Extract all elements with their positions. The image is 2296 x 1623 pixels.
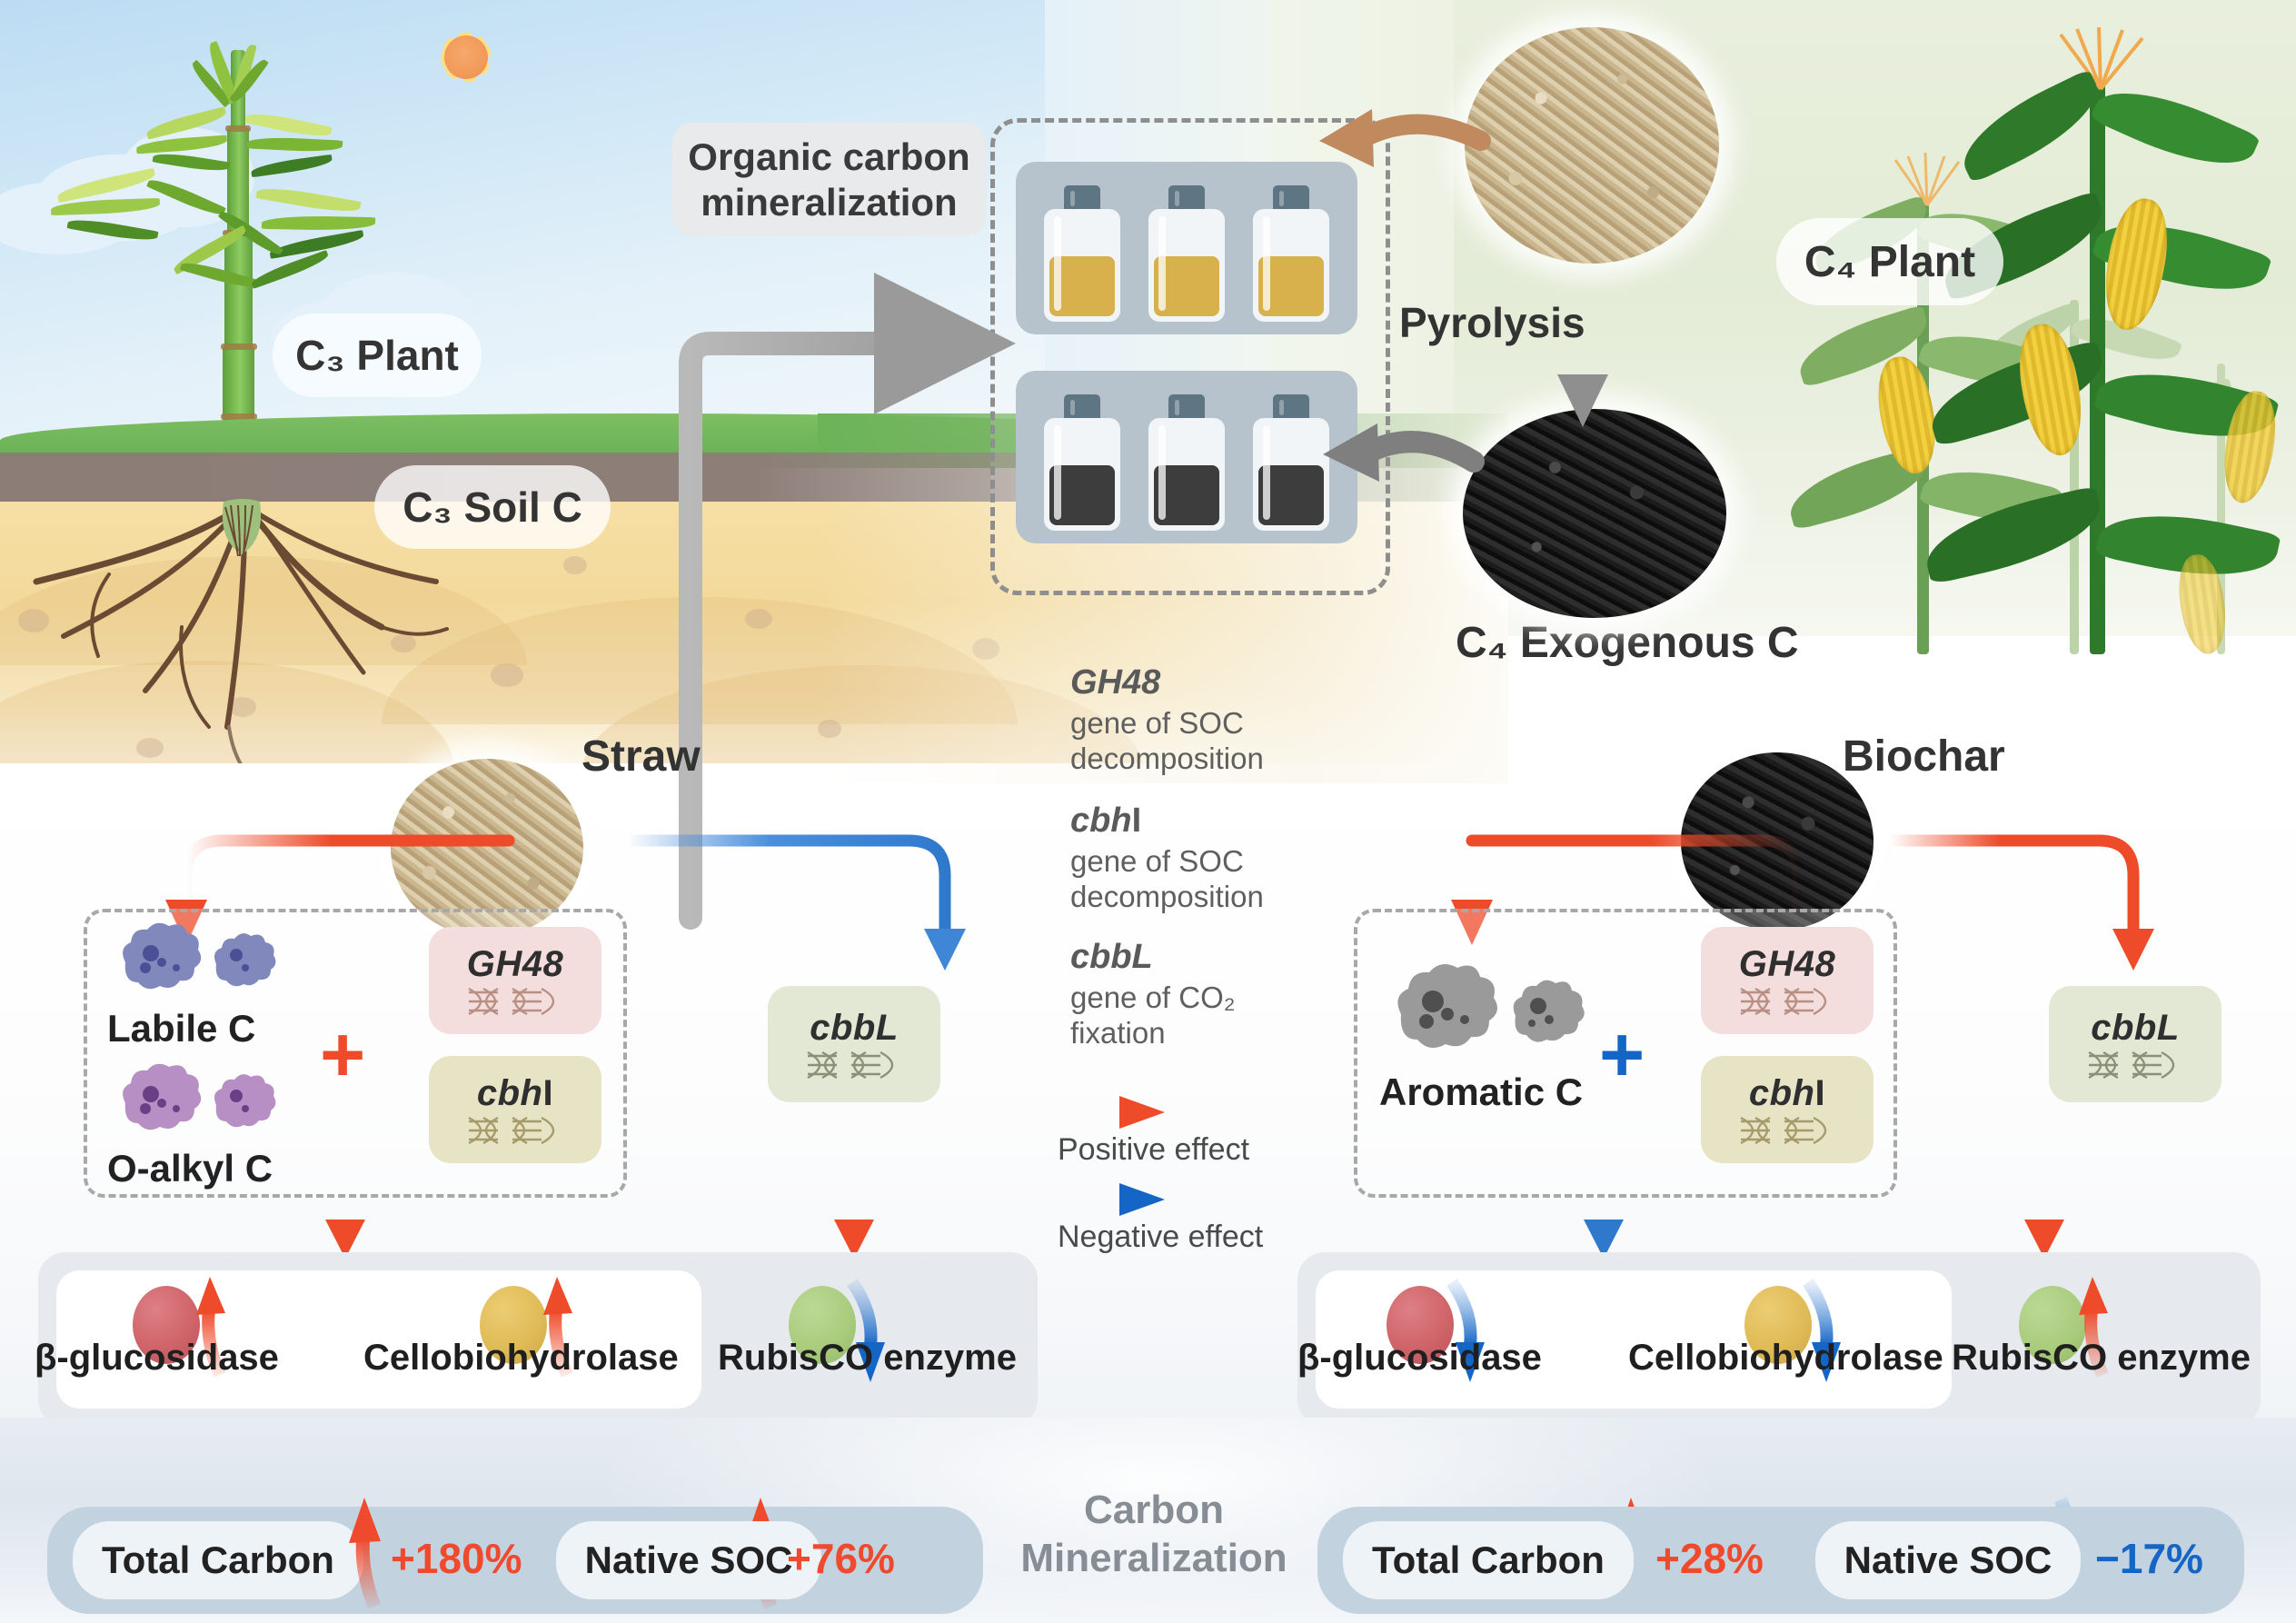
c3-plant-text: C₃ Plant [295, 331, 459, 380]
right-plus-icon: + [1599, 1016, 1645, 1094]
legend-cbbl-desc: gene of CO₂ fixation [1070, 981, 1279, 1051]
right-gene-cbhi: cbhI [1701, 1056, 1874, 1163]
left-gene-cbhi: cbhI [429, 1056, 601, 1163]
gene-legend-gh48: GH48 gene of SOC decomposition [1070, 663, 1279, 777]
right-cbbl-name: cbbL [2091, 1008, 2180, 1049]
left-plus-icon: + [320, 1016, 365, 1094]
c3-soil-label: C₃ Soil C [374, 465, 611, 549]
straw-label: Straw [581, 732, 701, 782]
incubation-tray-dark [1016, 371, 1357, 543]
ocm-text: Organic carbon mineralization [672, 134, 986, 224]
incubation-bottle [1253, 185, 1329, 322]
right-gene-cbbl: cbbL [2049, 986, 2221, 1102]
left-gene-cbbl: cbbL [768, 986, 940, 1102]
left-cbbl-name: cbbL [810, 1008, 899, 1049]
right-cbhi-name: cbhI [1749, 1073, 1825, 1114]
gene-legend-cbbl: cbbL gene of CO₂ fixation [1070, 938, 1279, 1051]
corn-field [1708, 0, 2296, 654]
left-total-carbon-chip: Total Carbon [73, 1521, 363, 1599]
right-native-soc-value: −17% [2095, 1534, 2203, 1583]
pyrolysis-label: Pyrolysis [1399, 298, 1585, 347]
dna-icon [2085, 1049, 2185, 1081]
dna-icon [465, 985, 565, 1018]
straw-photo-top [1465, 27, 1719, 264]
right-native-soc-chip: Native SOC [1815, 1521, 2081, 1599]
right-gene-gh48: GH48 [1701, 927, 1874, 1034]
right-native-soc-label: Native SOC [1844, 1538, 2052, 1582]
left-native-soc-value: +76% [787, 1534, 895, 1583]
right-enzyme-label-1: Cellobiohydrolase [1628, 1338, 1943, 1379]
gene-legend-cbhi: cbhI gene of SOC decomposition [1070, 802, 1279, 915]
legend-negative-effect: Negative effect [1058, 1220, 1263, 1255]
left-native-soc-label: Native SOC [585, 1538, 793, 1582]
left-enzyme-label-1: Cellobiohydrolase [363, 1338, 679, 1379]
dna-icon [1737, 985, 1837, 1018]
left-native-soc-chip: Native SOC [556, 1521, 821, 1599]
left-total-carbon-value: +180% [391, 1534, 522, 1583]
legend-positive-effect: Positive effect [1058, 1132, 1249, 1168]
figure-canvas: C₃ Plant C₃ Soil C C₄ Plant C₄ Exogenous… [0, 0, 2296, 1623]
legend-cbhi-desc: gene of SOC decomposition [1070, 844, 1279, 915]
incubation-bottle [1253, 394, 1329, 531]
right-total-carbon-value: +28% [1655, 1534, 1764, 1583]
left-gh48-name: GH48 [467, 944, 564, 985]
right-gh48-name: GH48 [1739, 944, 1836, 985]
dna-icon [1737, 1114, 1837, 1147]
c4-plant-text: C₄ Plant [1804, 237, 1975, 287]
incubation-bottle [1148, 394, 1225, 531]
dna-icon [465, 1114, 565, 1147]
left-cbhi-name: cbhI [477, 1073, 553, 1114]
legend-cbbl-name: cbbL [1070, 938, 1279, 977]
aromatic-c-label: Aromatic C [1379, 1070, 1583, 1114]
carbon-mineralization-label: Carbon Mineralization [1018, 1487, 1290, 1583]
right-enzyme-label-0: β-glucosidase [1297, 1338, 1542, 1379]
o-alkyl-c-microbes [109, 1063, 291, 1145]
left-gene-gh48: GH48 [429, 927, 601, 1034]
labile-c-microbes [109, 922, 291, 1004]
right-total-carbon-label: Total Carbon [1372, 1538, 1605, 1582]
legend-cbhi-name: cbhI [1070, 802, 1279, 841]
c3-soil-text: C₃ Soil C [403, 483, 582, 532]
right-enzyme-label-2: RubisCO enzyme [1952, 1338, 2251, 1379]
legend-gh48-name: GH48 [1070, 663, 1279, 702]
c4-plant-label: C₄ Plant [1776, 218, 2003, 305]
legend-gh48-desc: gene of SOC decomposition [1070, 706, 1279, 777]
incubation-bottle [1148, 185, 1225, 322]
right-total-carbon-chip: Total Carbon [1343, 1521, 1634, 1599]
left-enzyme-label-2: RubisCO enzyme [718, 1338, 1017, 1379]
incubation-bottle [1044, 185, 1120, 322]
organic-carbon-mineralization-label: Organic carbon mineralization [672, 123, 986, 236]
incubation-tray-amber [1016, 162, 1357, 334]
labile-c-label: Labile C [107, 1007, 255, 1050]
dna-icon [804, 1049, 904, 1081]
biochar-photo-top [1463, 409, 1726, 618]
aromatic-c-microbes [1381, 963, 1590, 1063]
left-enzyme-label-0: β-glucosidase [35, 1338, 279, 1379]
c3-plant-label: C₃ Plant [273, 314, 482, 397]
biochar-label: Biochar [1843, 732, 2005, 782]
left-total-carbon-label: Total Carbon [102, 1538, 334, 1582]
incubation-bottle [1044, 394, 1120, 531]
o-alkyl-c-label: O-alkyl C [107, 1147, 273, 1190]
c4-exogenous-label: C₄ Exogenous C [1456, 618, 1799, 668]
